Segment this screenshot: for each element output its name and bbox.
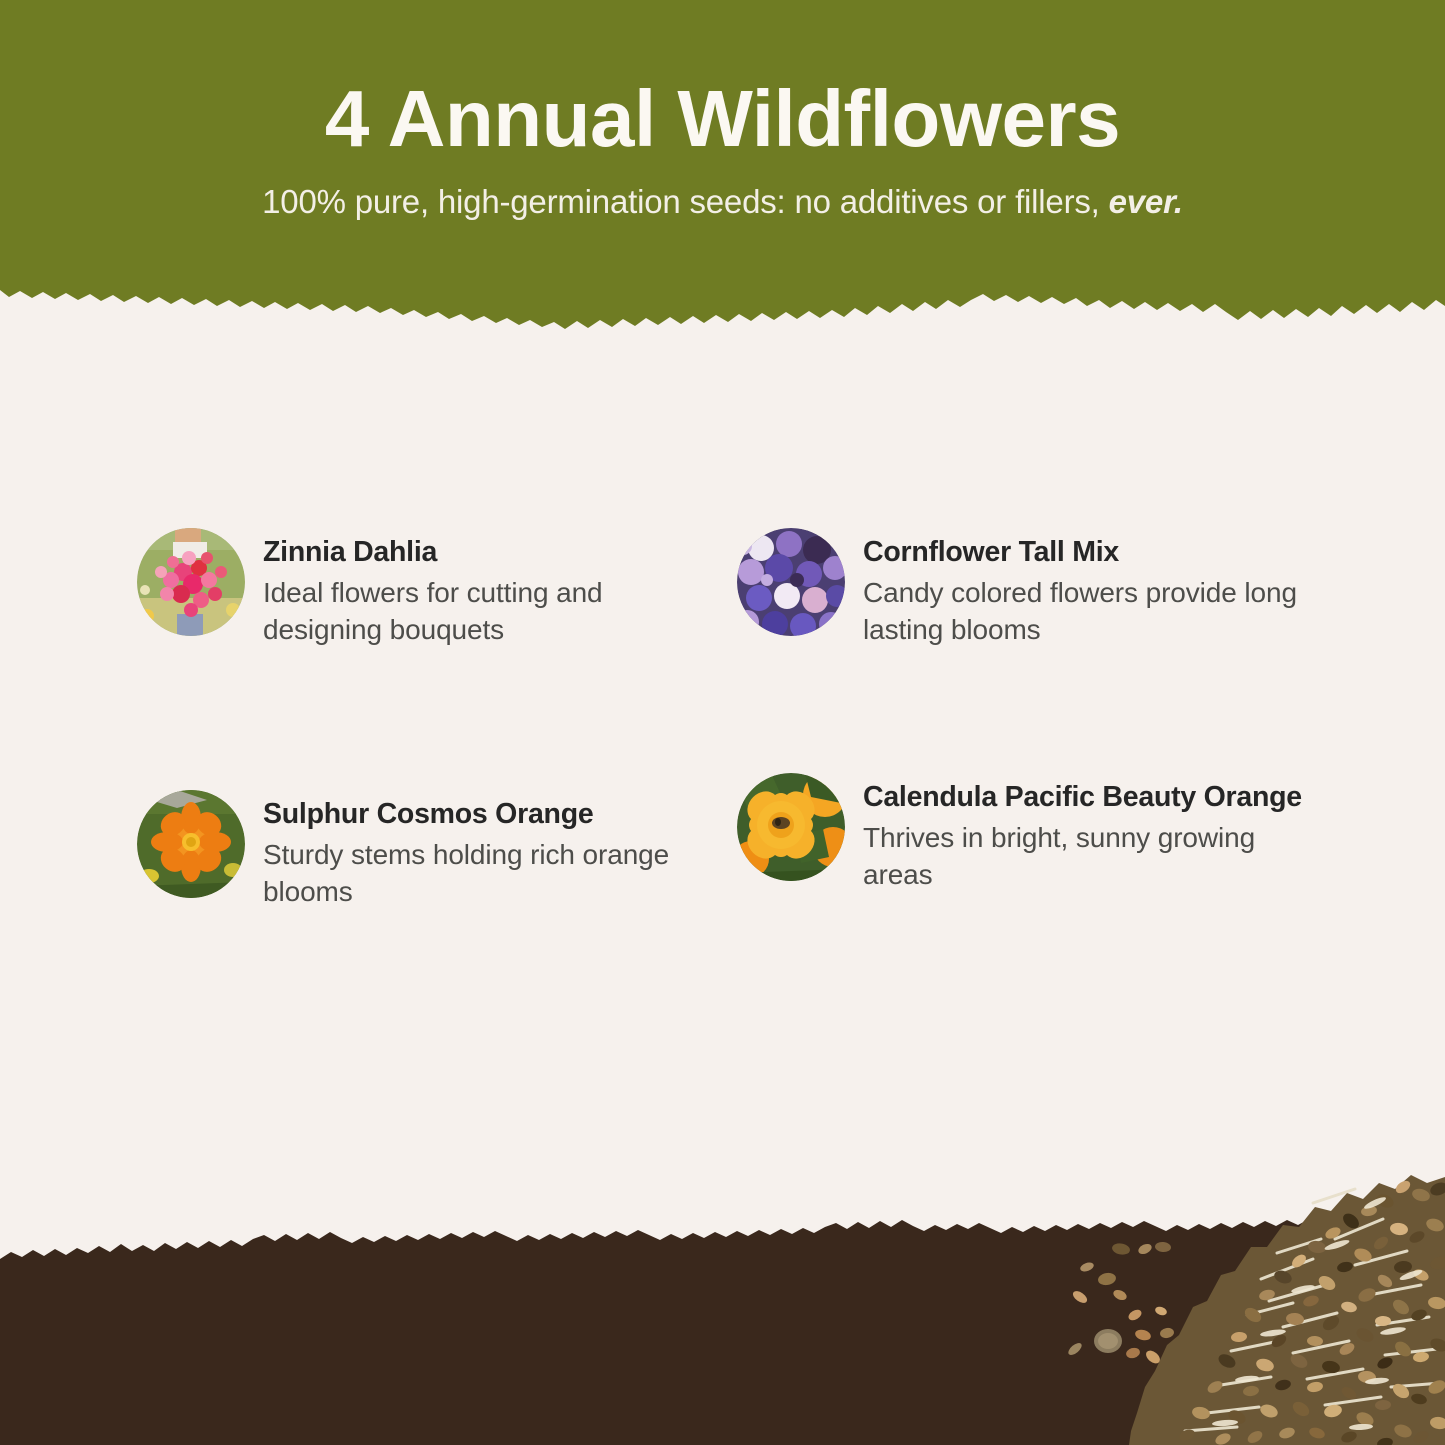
feature-item-sulphur-cosmos-orange: Sulphur Cosmos Orange Sturdy stems holdi…	[137, 790, 727, 911]
feature-grid: Zinnia Dahlia Ideal flowers for cutting …	[0, 505, 1445, 975]
feature-description: Thrives in bright, sunny growing areas	[863, 819, 1327, 893]
feature-description: Candy colored flowers provide long lasti…	[863, 574, 1307, 648]
zinnia-bouquet-photo-thumbnail	[137, 528, 245, 636]
header-band: 4 Annual Wildflowers 100% pure, high-ger…	[0, 0, 1445, 330]
soil-band	[0, 1215, 1445, 1445]
feature-item-zinnia-dahlia: Zinnia Dahlia Ideal flowers for cutting …	[137, 528, 697, 649]
feature-title: Sulphur Cosmos Orange	[263, 796, 727, 833]
page-subtitle: 100% pure, high-germination seeds: no ad…	[0, 183, 1445, 221]
feature-item-cornflower-tall-mix: Cornflower Tall Mix Candy colored flower…	[737, 528, 1307, 649]
calendula-photo-thumbnail	[737, 773, 845, 881]
feature-description: Sturdy stems holding rich orange blooms	[263, 836, 727, 910]
feature-item-calendula-pacific-beauty-orange: Calendula Pacific Beauty Orange Thrives …	[737, 773, 1327, 894]
feature-text-block: Calendula Pacific Beauty Orange Thrives …	[863, 773, 1327, 894]
feature-description: Ideal flowers for cutting and designing …	[263, 574, 697, 648]
header-green-background	[0, 0, 1445, 330]
subtitle-main-text: 100% pure, high-germination seeds: no ad…	[262, 183, 1100, 220]
feature-text-block: Zinnia Dahlia Ideal flowers for cutting …	[263, 528, 697, 649]
feature-text-block: Cornflower Tall Mix Candy colored flower…	[863, 528, 1307, 649]
feature-title: Cornflower Tall Mix	[863, 534, 1307, 571]
feature-text-block: Sulphur Cosmos Orange Sturdy stems holdi…	[263, 790, 727, 911]
page-title: 4 Annual Wildflowers	[0, 78, 1445, 160]
subtitle-emphasis-text: ever.	[1109, 183, 1183, 220]
feature-title: Zinnia Dahlia	[263, 534, 697, 571]
sulphur-cosmos-photo-thumbnail	[137, 790, 245, 898]
feature-title: Calendula Pacific Beauty Orange	[863, 779, 1327, 816]
cornflower-mix-photo-thumbnail	[737, 528, 845, 636]
